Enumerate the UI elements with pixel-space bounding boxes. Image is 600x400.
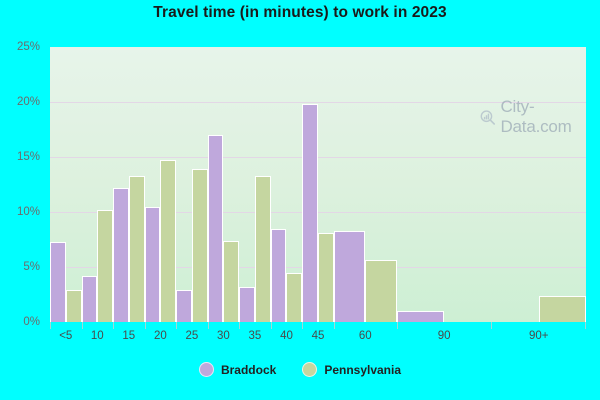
x-axis-tick-mark: [334, 322, 335, 329]
bar-pennsylvania-35: [255, 176, 271, 322]
y-axis: 0%5%10%15%20%25%: [0, 0, 46, 400]
bar-pennsylvania-45: [318, 233, 334, 322]
x-axis-tick-label: 35: [249, 330, 262, 342]
x-axis-tick-label: 15: [122, 330, 135, 342]
y-axis-tick-label: 5%: [23, 261, 40, 273]
bar-pennsylvania-10: [97, 210, 113, 322]
y-axis-tick-label: 15%: [17, 151, 40, 163]
bar-pennsylvania-<5: [66, 290, 82, 322]
legend-item-pennsylvania[interactable]: Pennsylvania: [302, 362, 401, 377]
x-axis-tick-mark: [271, 322, 272, 329]
legend-swatch-icon: [302, 362, 317, 377]
x-axis-tick-mark: [491, 322, 492, 329]
bar-braddock-40: [271, 229, 287, 323]
y-axis-tick-label: 25%: [17, 41, 40, 53]
legend-label: Pennsylvania: [324, 363, 401, 377]
bar-braddock-15: [113, 188, 129, 322]
bar-pennsylvania-90+: [539, 296, 586, 322]
x-axis-tick-label: 60: [359, 330, 372, 342]
y-axis-tick-label: 0%: [23, 316, 40, 328]
bar-pennsylvania-25: [192, 169, 208, 322]
x-axis-tick-label: 40: [280, 330, 293, 342]
bar-pennsylvania-15: [129, 176, 145, 322]
bar-braddock-20: [145, 207, 161, 323]
x-axis: <51015202530354045609090+: [50, 322, 586, 352]
bar-pennsylvania-60: [365, 260, 397, 322]
plot-area: City-Data.com: [50, 47, 586, 322]
bar-braddock-60: [334, 231, 366, 322]
bar-braddock-<5: [50, 242, 66, 322]
x-axis-tick-mark: [176, 322, 177, 329]
bar-pennsylvania-20: [160, 160, 176, 322]
bar-braddock-90: [397, 311, 444, 322]
y-axis-tick-label: 10%: [17, 206, 40, 218]
x-axis-tick-mark: [239, 322, 240, 329]
x-axis-tick-mark: [113, 322, 114, 329]
x-axis-tick-mark: [208, 322, 209, 329]
x-axis-tick-label: 20: [154, 330, 167, 342]
bar-braddock-45: [302, 104, 318, 322]
x-axis-tick-label: <5: [59, 330, 72, 342]
x-axis-tick-mark: [302, 322, 303, 329]
bars-layer: [50, 47, 586, 322]
x-axis-tick-label: 10: [91, 330, 104, 342]
bar-braddock-35: [239, 287, 255, 322]
x-axis-tick-mark: [82, 322, 83, 329]
x-axis-tick-label: 90: [438, 330, 451, 342]
bar-braddock-10: [82, 276, 98, 322]
x-axis-tick-label: 30: [217, 330, 230, 342]
bar-pennsylvania-30: [223, 241, 239, 322]
watermark: City-Data.com: [480, 97, 586, 137]
bar-braddock-30: [208, 135, 224, 322]
x-axis-tick-label: 90+: [529, 330, 549, 342]
x-axis-tick-mark: [585, 322, 586, 329]
legend-swatch-icon: [199, 362, 214, 377]
chart-container: Travel time (in minutes) to work in 2023…: [0, 0, 600, 400]
bar-pennsylvania-40: [286, 273, 302, 323]
watermark-text: City-Data.com: [500, 97, 586, 137]
x-axis-tick-mark: [145, 322, 146, 329]
x-axis-tick-label: 45: [312, 330, 325, 342]
chart-title: Travel time (in minutes) to work in 2023: [0, 4, 600, 22]
x-axis-tick-label: 25: [185, 330, 198, 342]
legend-label: Braddock: [221, 363, 276, 377]
chart-legend: BraddockPennsylvania: [0, 362, 600, 377]
legend-item-braddock[interactable]: Braddock: [199, 362, 276, 377]
magnifier-bars-icon: [480, 108, 495, 127]
y-axis-tick-label: 20%: [17, 96, 40, 108]
bar-braddock-25: [176, 290, 192, 322]
x-axis-tick-mark: [397, 322, 398, 329]
x-axis-tick-mark: [50, 322, 51, 329]
